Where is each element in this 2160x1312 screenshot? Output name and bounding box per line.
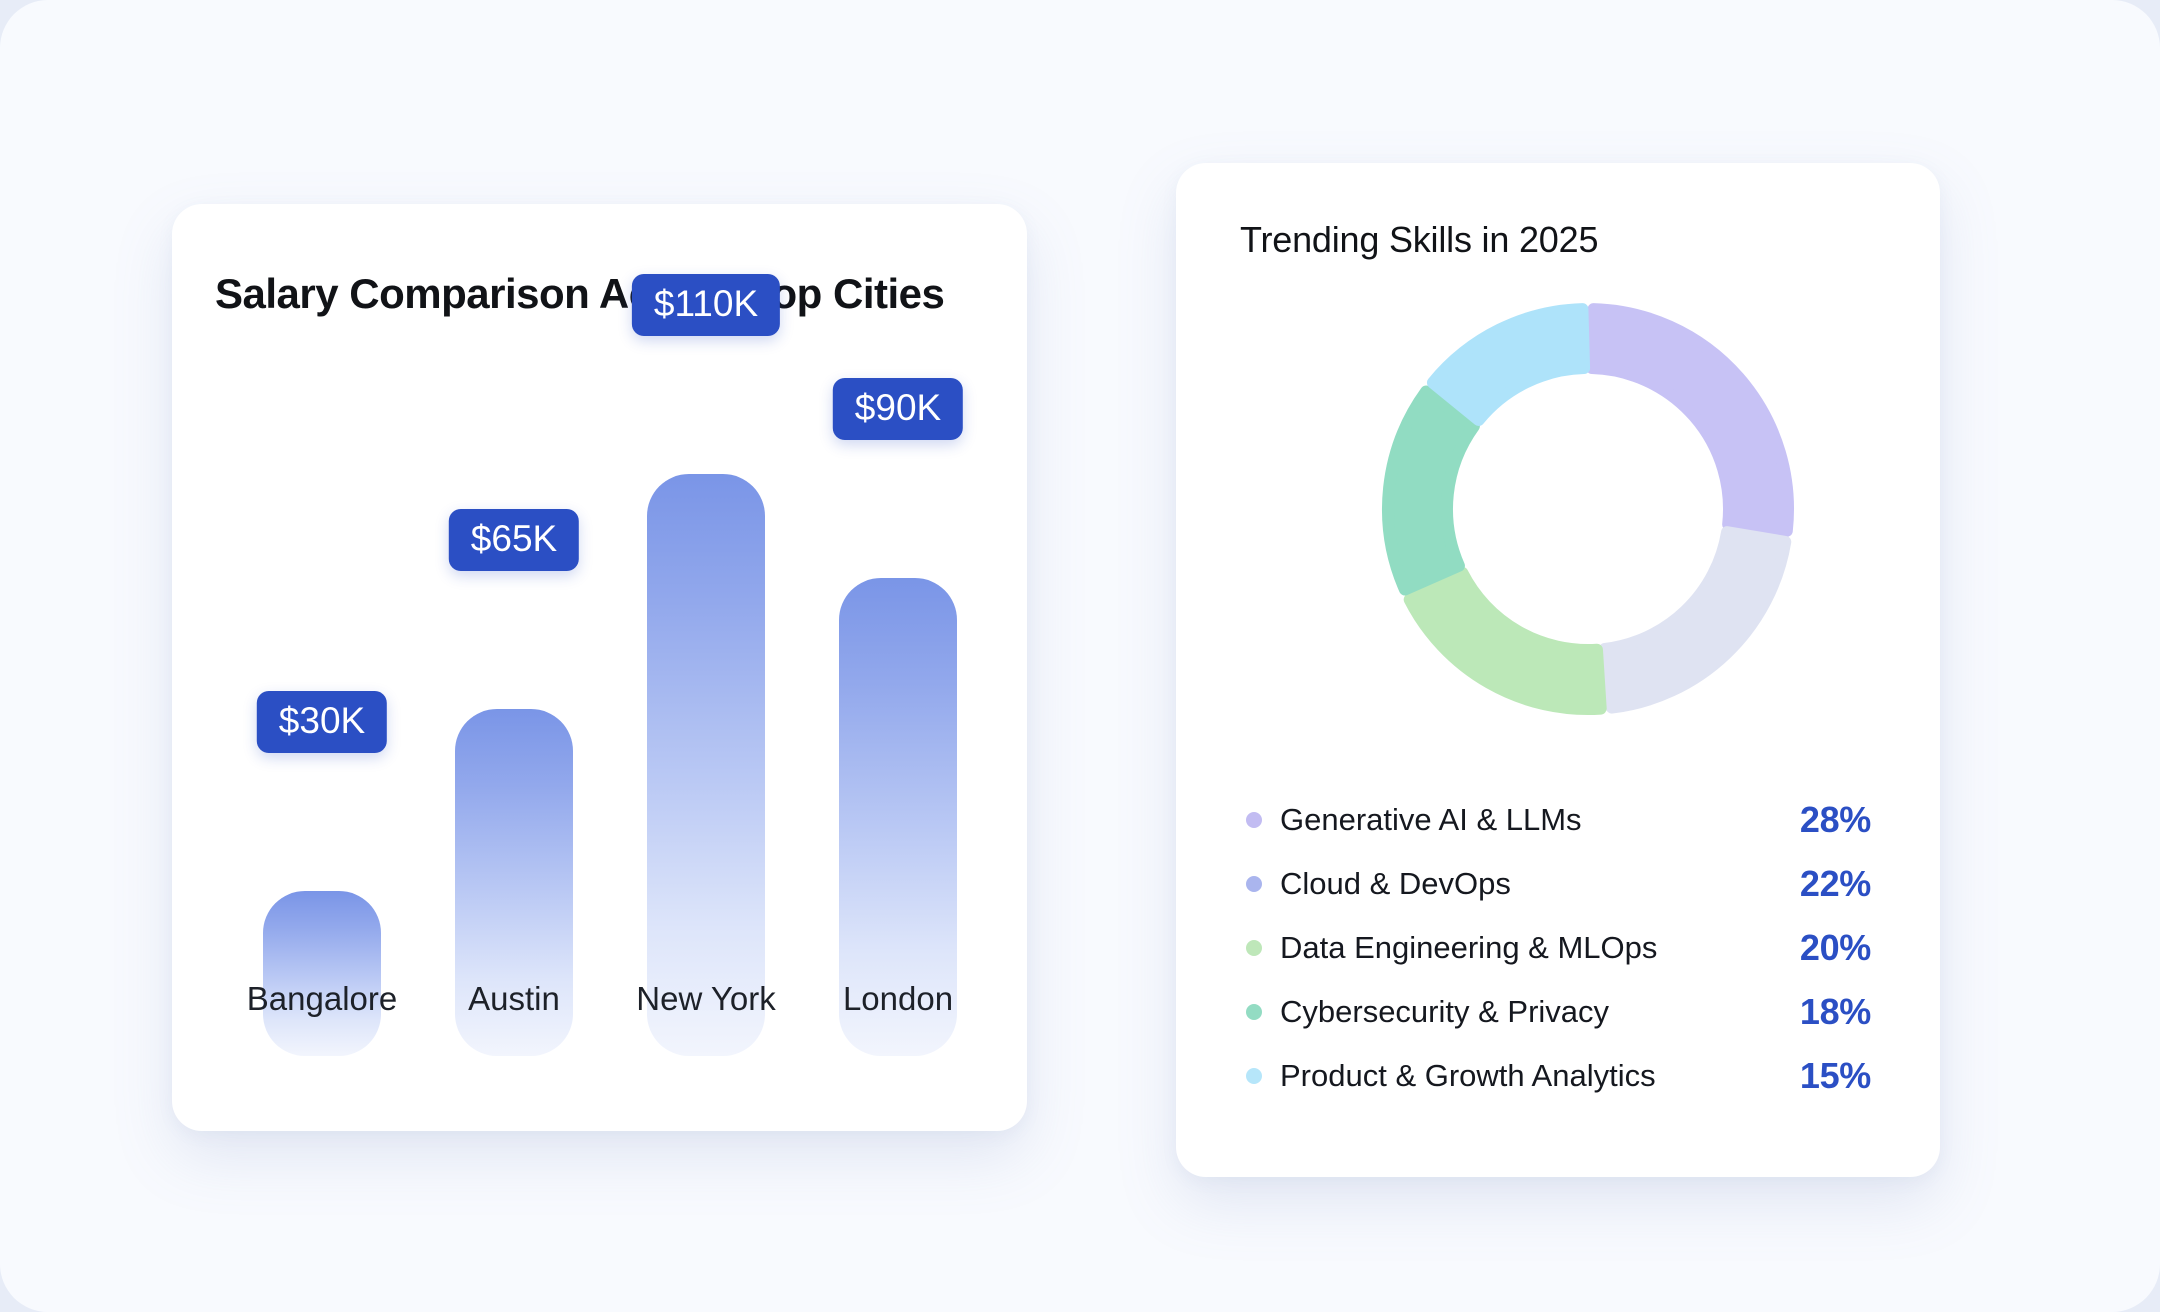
bar-group-bangalore[interactable]: $30K Bangalore [234,356,410,1056]
donut-segment-4[interactable] [1388,392,1474,590]
bar-bangalore[interactable] [263,891,381,1056]
bar-category-label: London [810,980,986,1018]
donut-segment-3[interactable] [1410,573,1601,709]
list-item[interactable]: Generative AI & LLMs 28% [1246,788,1871,852]
list-item[interactable]: Product & Growth Analytics 15% [1246,1044,1871,1108]
bar-value-badge: $30K [257,691,387,753]
legend-label: Cloud & DevOps [1280,866,1511,902]
legend-percentage: 18% [1800,991,1871,1033]
bar-category-label: New York [618,980,794,1018]
bar-value-badge: $110K [632,274,780,336]
legend-label: Generative AI & LLMs [1280,802,1582,838]
legend-dot-icon [1246,1004,1262,1020]
trending-skills-card: Trending Skills in 2025 Generative AI & … [1176,163,1940,1177]
donut-segment-2[interactable] [1605,532,1785,707]
bar-new-york[interactable] [647,474,765,1056]
list-item[interactable]: Cloud & DevOps 22% [1246,852,1871,916]
donut-chart-title: Trending Skills in 2025 [1240,219,1598,261]
list-item[interactable]: Cybersecurity & Privacy 18% [1246,980,1871,1044]
bar-group-london[interactable]: $90K London [810,356,986,1056]
list-item[interactable]: Data Engineering & MLOps 20% [1246,916,1871,980]
page-background: Salary Comparison Across Top Cities $30K… [0,0,2160,1312]
legend-dot-icon [1246,812,1262,828]
donut-segment-5[interactable] [1433,309,1584,420]
legend-label: Cybersecurity & Privacy [1280,994,1609,1030]
donut-legend: Generative AI & LLMs 28% Cloud & DevOps … [1246,788,1871,1108]
bar-category-label: Bangalore [234,980,410,1018]
legend-dot-icon [1246,1068,1262,1084]
bar-group-austin[interactable]: $65K Austin [426,356,602,1056]
bar-group-new-york[interactable]: $110K New York [618,356,794,1056]
donut-chart-svg [1378,299,1798,719]
legend-percentage: 28% [1800,799,1871,841]
legend-percentage: 20% [1800,927,1871,969]
donut-segment-1[interactable] [1592,309,1788,531]
salary-comparison-card: Salary Comparison Across Top Cities $30K… [172,204,1027,1131]
legend-dot-icon [1246,876,1262,892]
bar-value-badge: $65K [449,509,579,571]
bar-value-badge: $90K [833,378,963,440]
bar-chart-plot-area: $30K Bangalore $65K Austin $110K New Yor… [208,354,992,1174]
legend-label: Data Engineering & MLOps [1280,930,1657,966]
legend-percentage: 15% [1800,1055,1871,1097]
donut-chart[interactable] [1378,299,1798,719]
page-title: Salary Comparison Across Top Cities [215,270,944,318]
legend-percentage: 22% [1800,863,1871,905]
legend-dot-icon [1246,940,1262,956]
bar-category-label: Austin [426,980,602,1018]
legend-label: Product & Growth Analytics [1280,1058,1656,1094]
